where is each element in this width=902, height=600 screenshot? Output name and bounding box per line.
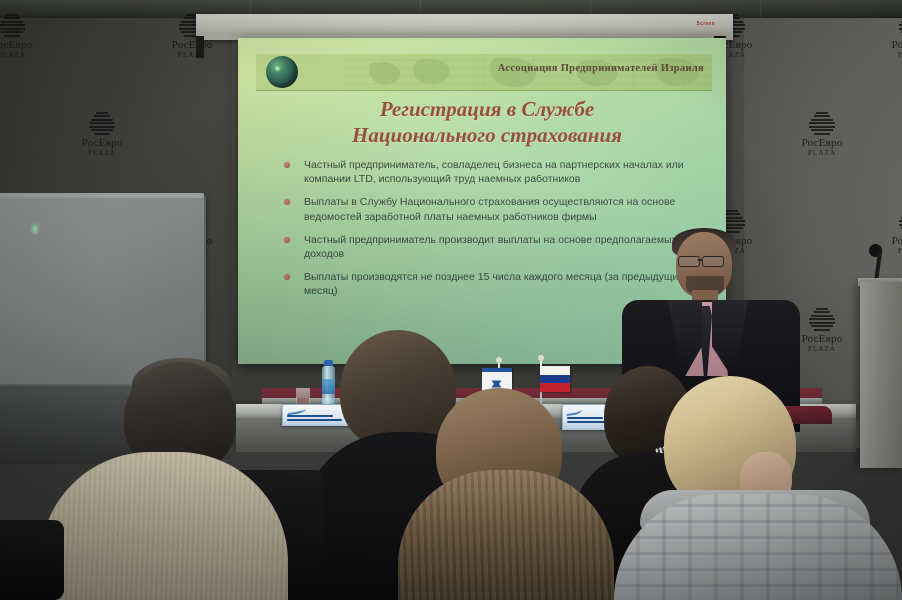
slide-bullet: Выплаты в Службу Национального страхован… xyxy=(282,195,702,223)
housing-brand-label: Screen xyxy=(697,21,715,27)
whiteboard-glare xyxy=(30,222,40,236)
bullet-marker-icon xyxy=(284,274,290,280)
eyeglasses-right-lens xyxy=(702,256,724,267)
chair-backrest-left xyxy=(0,520,64,600)
slide-bullet: Частный предприниматель, совладелец бизн… xyxy=(282,158,702,186)
globe-icon xyxy=(266,56,298,88)
screen-edge-left xyxy=(196,36,204,58)
slide-association-title: Ассоциация Предпринимателей Израиля xyxy=(498,63,704,74)
podium xyxy=(860,282,902,468)
slide-title: Регистрация в Службе Национального страх… xyxy=(264,96,710,148)
eyeglasses-left-lens xyxy=(678,256,700,267)
bullet-marker-icon xyxy=(284,162,290,168)
whiteboard-rail xyxy=(0,193,204,198)
slide-bullet-text: Выплаты в Службу Национального страхован… xyxy=(304,196,675,222)
slide-title-line-1: Регистрация в Службе xyxy=(264,96,710,122)
slide-title-line-2: Национального страхования xyxy=(264,122,710,148)
slide-bullet-text: Частный предприниматель, совладелец бизн… xyxy=(304,159,684,185)
conference-room-photo: РосЕвроPLAZAРосЕвроPLAZAРосЕвроPLAZAРосЕ… xyxy=(0,0,902,600)
bullet-marker-icon xyxy=(284,199,290,205)
projector-screen-housing: Screen xyxy=(196,14,733,40)
bullet-marker-icon xyxy=(284,237,290,243)
eyeglasses-bridge xyxy=(698,259,703,261)
russia-flag xyxy=(540,366,570,392)
slide-header-band: Ассоциация Предпринимателей Израиля xyxy=(256,54,712,91)
